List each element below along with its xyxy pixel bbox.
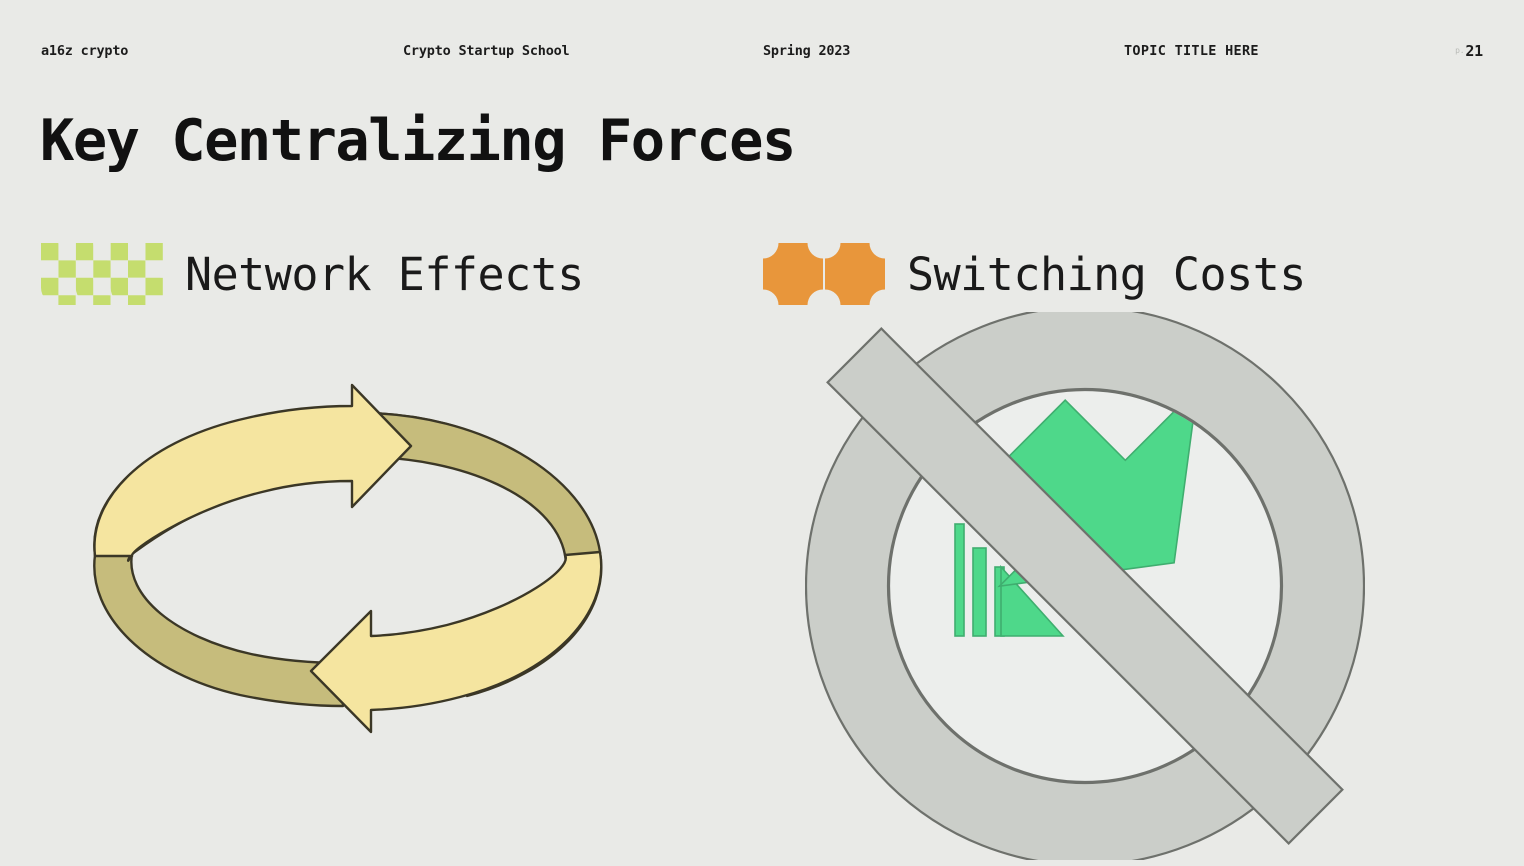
force-item-switching-costs: Switching Costs	[763, 238, 1306, 310]
header-topic-title: TOPIC TITLE HERE	[1124, 38, 1259, 64]
header-page-number: p.21	[1455, 38, 1483, 64]
slide-root: a16z crypto Crypto Startup School Spring…	[0, 0, 1524, 866]
header-term: Spring 2023	[763, 38, 850, 64]
slide-header: a16z crypto Crypto Startup School Spring…	[0, 38, 1524, 64]
header-course-name: Crypto Startup School	[403, 38, 569, 64]
force-item-network-effects: Network Effects	[41, 238, 584, 310]
force-label-switching-costs: Switching Costs	[907, 252, 1306, 297]
page-number-prefix: p.	[1455, 46, 1464, 55]
header-brand: a16z crypto	[41, 38, 128, 64]
no-switching-prohibition-sign-with-green-arrow	[805, 312, 1365, 860]
page-title: Key Centralizing Forces	[40, 112, 795, 172]
double-concave-octagon-icon	[763, 243, 885, 305]
page-number-value: 21	[1465, 42, 1483, 60]
circular-arrows-cycle-diagram	[55, 368, 640, 758]
checkerboard-icon	[41, 243, 163, 305]
force-label-network-effects: Network Effects	[185, 252, 584, 297]
